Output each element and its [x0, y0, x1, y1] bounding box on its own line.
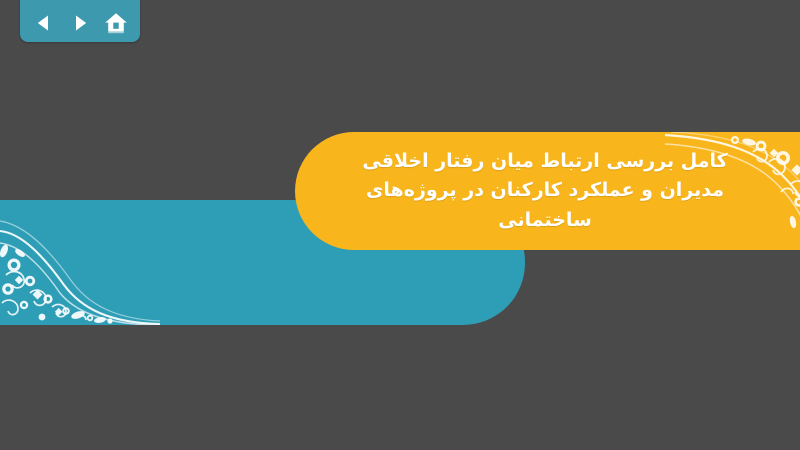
title-line-2: مدیران و عملکرد کارکنان در پروژه‌های: [366, 176, 724, 205]
previous-button[interactable]: [30, 10, 58, 36]
home-icon: [104, 12, 128, 34]
triangle-left-icon: [34, 13, 54, 33]
next-button[interactable]: [66, 10, 94, 36]
title-line-3: ساختمانی: [498, 206, 592, 235]
slide-title: کامل بررسی ارتباط میان رفتار اخلاقی مدیر…: [295, 132, 795, 250]
triangle-right-icon: [70, 13, 90, 33]
presentation-slide: کامل بررسی ارتباط میان رفتار اخلاقی مدیر…: [0, 0, 800, 450]
arabesque-corner-ornament-mirrored: [0, 213, 160, 325]
title-banner: کامل بررسی ارتباط میان رفتار اخلاقی مدیر…: [295, 132, 800, 250]
navigation-bar: [20, 0, 140, 42]
home-button[interactable]: [102, 10, 130, 36]
title-line-1: کامل بررسی ارتباط میان رفتار اخلاقی: [362, 147, 727, 176]
